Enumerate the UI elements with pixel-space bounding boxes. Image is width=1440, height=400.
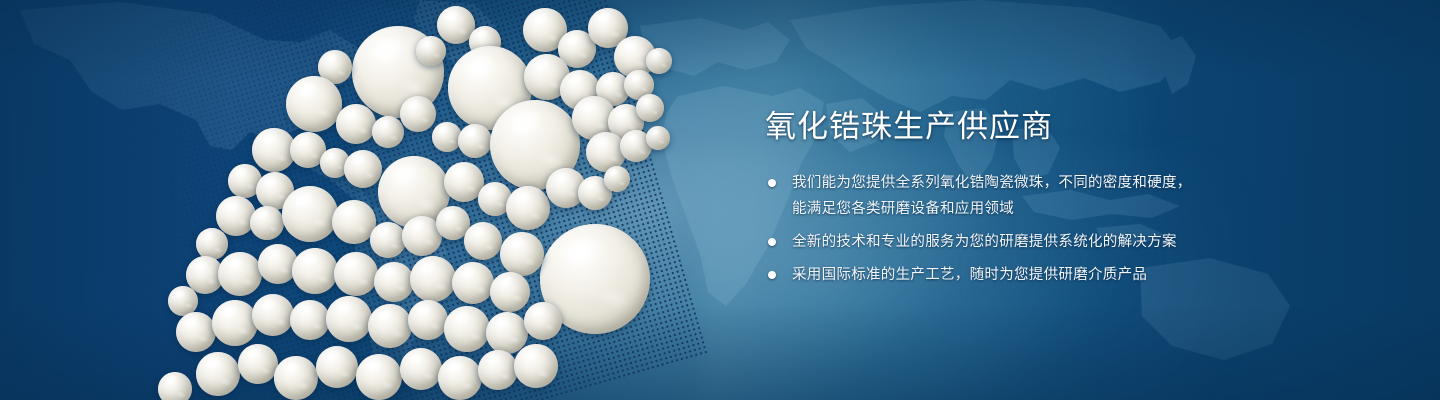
zirconia-bead-cluster-image bbox=[0, 0, 760, 400]
page-title: 氧化锆珠生产供应商 bbox=[765, 108, 1365, 146]
bead bbox=[372, 116, 404, 148]
bead bbox=[212, 300, 258, 346]
bead bbox=[464, 222, 502, 260]
bead bbox=[274, 356, 318, 400]
bead bbox=[336, 104, 376, 144]
bead bbox=[196, 228, 228, 260]
bead bbox=[334, 252, 378, 296]
bead bbox=[176, 312, 216, 352]
bead bbox=[416, 36, 446, 66]
bead bbox=[218, 252, 262, 296]
bead bbox=[478, 350, 518, 390]
list-item-line: 全新的技术和专业的服务为您的研磨提供系统化的解决方案 bbox=[792, 229, 1365, 255]
list-item-line: 能满足您各类研磨设备和应用领域 bbox=[792, 196, 1365, 222]
bead bbox=[636, 94, 664, 122]
bead bbox=[490, 272, 530, 312]
bead bbox=[286, 76, 342, 132]
list-item: 全新的技术和专业的服务为您的研磨提供系统化的解决方案 bbox=[765, 229, 1365, 255]
bead bbox=[444, 306, 490, 352]
bead bbox=[438, 356, 482, 400]
bead bbox=[216, 196, 256, 236]
bead bbox=[290, 300, 330, 340]
bead bbox=[400, 348, 442, 390]
bead bbox=[252, 294, 294, 336]
bead bbox=[368, 304, 412, 348]
bead bbox=[344, 150, 382, 188]
banner-copy: 氧化锆珠生产供应商 我们能为您提供全系列氧化锆陶瓷微珠，不同的密度和硬度， 能满… bbox=[765, 108, 1365, 288]
bead bbox=[238, 344, 278, 384]
bead bbox=[250, 206, 284, 240]
bead bbox=[500, 232, 544, 276]
list-item-line: 我们能为您提供全系列氧化锆陶瓷微珠，不同的密度和硬度， bbox=[792, 170, 1365, 196]
bead bbox=[400, 96, 436, 132]
bead bbox=[458, 124, 492, 158]
bead bbox=[514, 344, 558, 388]
bead bbox=[410, 256, 456, 302]
bead bbox=[506, 186, 550, 230]
feature-list: 我们能为您提供全系列氧化锆陶瓷微珠，不同的密度和硬度， 能满足您各类研磨设备和应… bbox=[765, 170, 1365, 288]
bead bbox=[158, 372, 192, 400]
list-item-line: 采用国际标准的生产工艺，随时为您提供研磨介质产品 bbox=[792, 262, 1365, 288]
bead bbox=[326, 296, 372, 342]
bullet-dot-icon bbox=[768, 271, 776, 279]
bead bbox=[646, 48, 672, 74]
bead bbox=[282, 186, 338, 242]
list-item: 我们能为您提供全系列氧化锆陶瓷微珠，不同的密度和硬度， 能满足您各类研磨设备和应… bbox=[765, 170, 1365, 222]
bead bbox=[316, 346, 358, 388]
bead bbox=[292, 248, 338, 294]
hero-banner: 氧化锆珠生产供应商 我们能为您提供全系列氧化锆陶瓷微珠，不同的密度和硬度， 能满… bbox=[0, 0, 1440, 400]
bullet-dot-icon bbox=[768, 238, 776, 246]
bead bbox=[196, 352, 240, 396]
bullet-dot-icon bbox=[768, 179, 776, 187]
bead bbox=[408, 300, 448, 340]
bead bbox=[374, 262, 414, 302]
bead bbox=[356, 354, 402, 400]
bead bbox=[452, 262, 494, 304]
bead bbox=[646, 126, 670, 150]
bead bbox=[370, 222, 406, 258]
list-item: 采用国际标准的生产工艺，随时为您提供研磨介质产品 bbox=[765, 262, 1365, 288]
bead bbox=[524, 302, 562, 340]
bead bbox=[604, 166, 630, 192]
